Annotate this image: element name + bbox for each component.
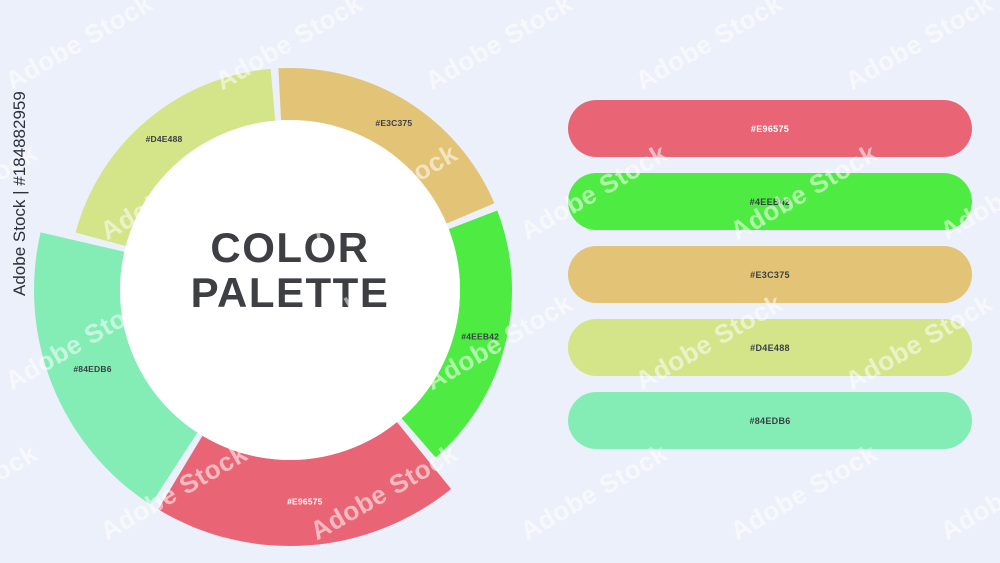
color-wheel-donut-chart: #E96575#4EEB42#E3C375#D4E488#84EDB6 COLO… [0, 0, 560, 563]
donut-label-coral-red: #E96575 [287, 497, 323, 507]
swatch-bar-bright-green[interactable]: #4EEB42 [568, 173, 972, 230]
stock-id-watermark: Adobe Stock | #184882959 [10, 91, 30, 296]
swatch-label-coral-red: #E96575 [751, 124, 789, 134]
swatch-bar-coral-red[interactable]: #E96575 [568, 100, 972, 157]
watermark-text: Adobe Stock [630, 0, 788, 97]
swatch-bar-sand-tan[interactable]: #E3C375 [568, 246, 972, 303]
donut-label-bright-green: #4EEB42 [461, 332, 499, 342]
swatch-label-bright-green: #4EEB42 [750, 197, 791, 207]
center-title-line1: COLOR [210, 224, 369, 271]
swatch-bar-lime-yellow[interactable]: #D4E488 [568, 319, 972, 376]
swatch-label-mint-green: #84EDB6 [749, 416, 790, 426]
swatch-label-sand-tan: #E3C375 [750, 270, 790, 280]
watermark-text: Adobe Stock [935, 438, 1000, 547]
watermark-text: Adobe Stock [725, 438, 883, 547]
swatch-bar-mint-green[interactable]: #84EDB6 [568, 392, 972, 449]
donut-center-title: COLOR PALETTE [120, 225, 460, 316]
color-swatch-list: #E96575#4EEB42#E3C375#D4E488#84EDB6 [568, 100, 972, 449]
watermark-text: Adobe Stock [840, 0, 998, 97]
donut-label-mint-green: #84EDB6 [73, 364, 111, 374]
donut-label-sand-tan: #E3C375 [375, 118, 412, 128]
swatch-label-lime-yellow: #D4E488 [750, 343, 790, 353]
center-title-line2: PALETTE [120, 270, 460, 315]
donut-label-lime-yellow: #D4E488 [146, 134, 183, 144]
